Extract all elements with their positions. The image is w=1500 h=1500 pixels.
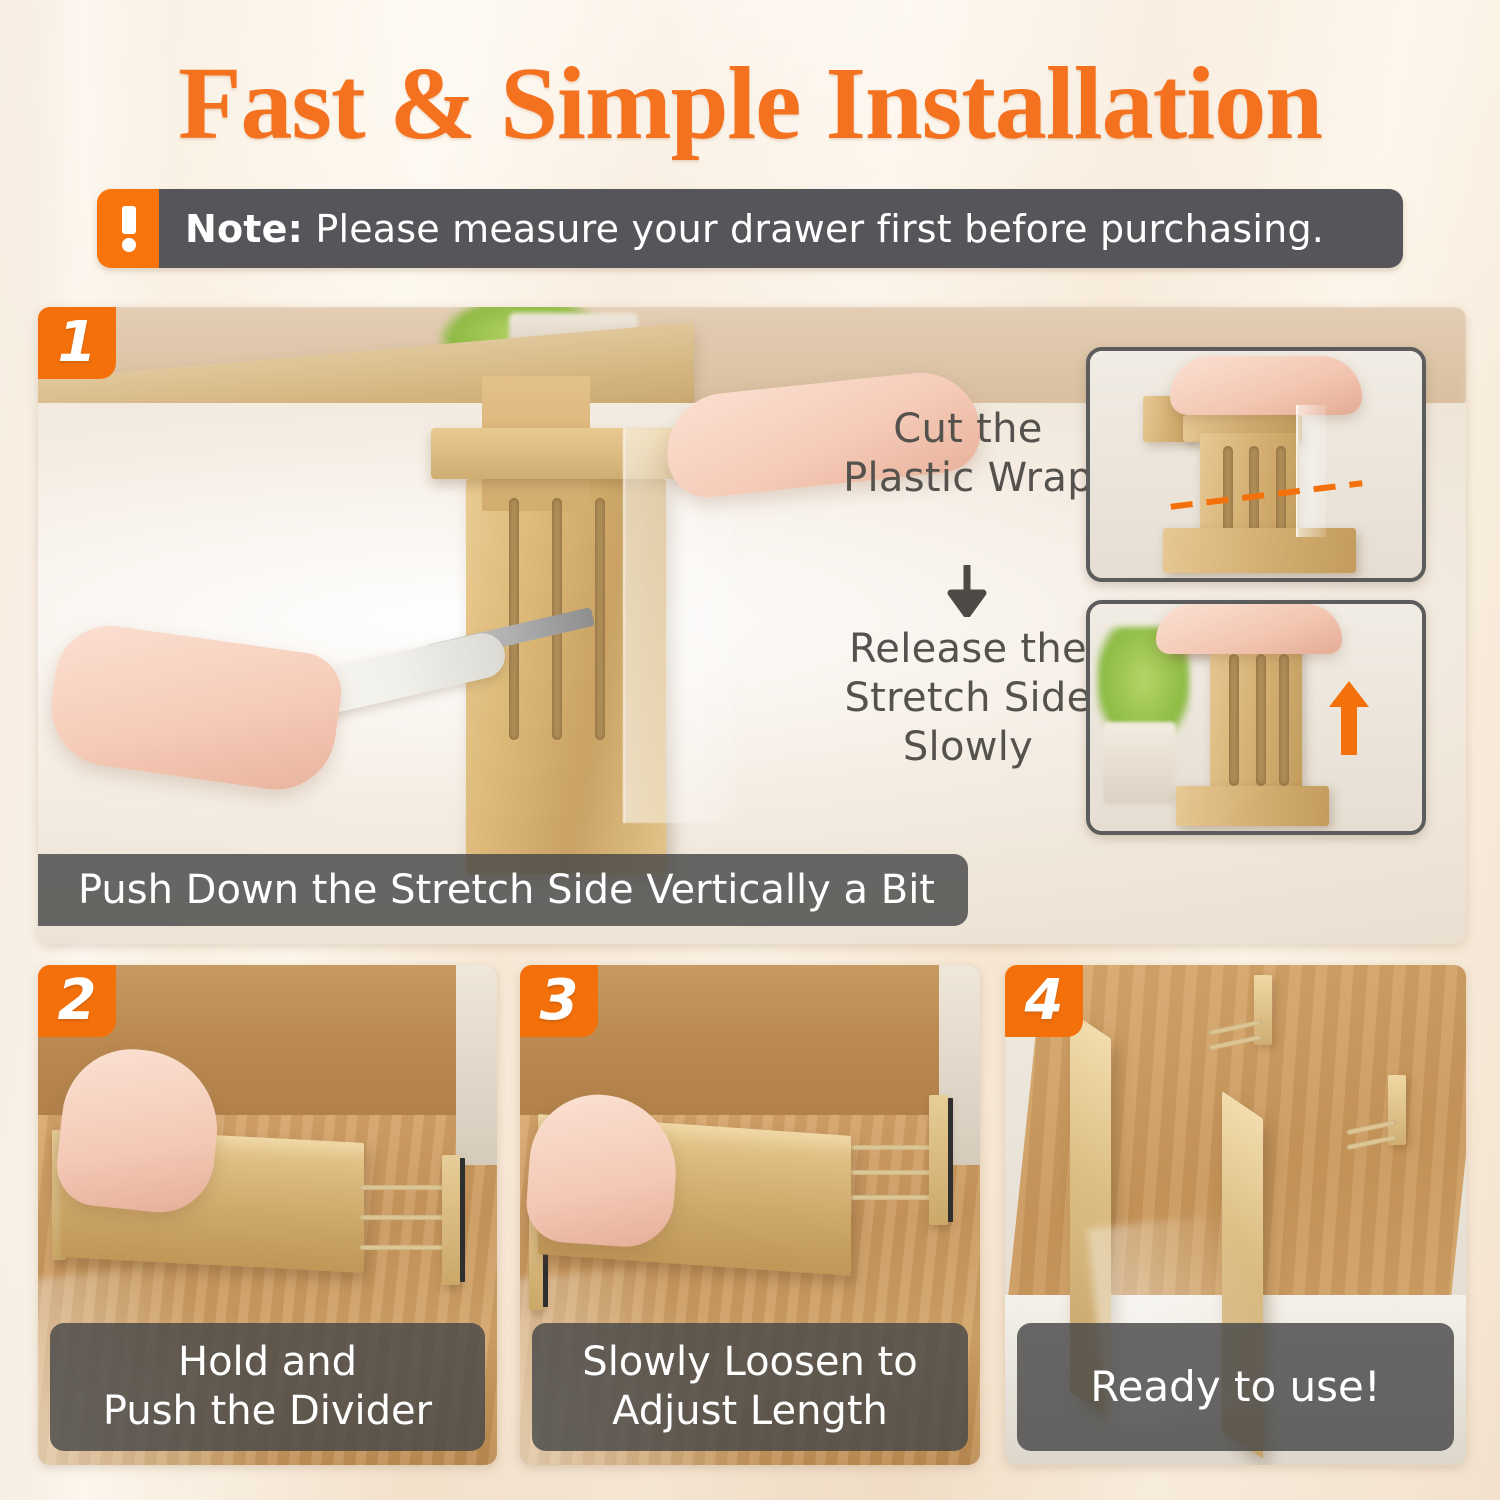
step-badge-1: 1 <box>38 307 116 379</box>
page-title: Fast & Simple Installation <box>0 52 1500 156</box>
infographic-page: Fast & Simple Installation Note: Please … <box>0 0 1500 1500</box>
step-3-caption: Slowly Loosen to Adjust Length <box>532 1323 968 1451</box>
note-label: Note: <box>185 207 303 251</box>
step-4-caption: Ready to use! <box>1017 1323 1454 1451</box>
divider-end-cap <box>929 1095 947 1225</box>
release-stretch-inset <box>1086 600 1426 835</box>
caption-line: Adjust Length <box>612 1387 888 1436</box>
step-badge-2: 2 <box>38 965 116 1037</box>
note-text: Note: Please measure your drawer first b… <box>185 207 1324 251</box>
step-1-caption: Push Down the Stretch Side Vertically a … <box>38 854 968 926</box>
step-panel-2: 2 Hold and Push the Divider <box>38 965 497 1465</box>
step-badge-4: 4 <box>1005 965 1083 1037</box>
step-panel-3: 3 Slowly Loosen to Adjust Length <box>520 965 980 1465</box>
cut-wrap-inset <box>1086 347 1426 582</box>
caption-line: Push the Divider <box>103 1387 432 1436</box>
caption-line: Ready to use! <box>1090 1361 1380 1412</box>
exclamation-icon <box>97 189 159 268</box>
down-arrow-icon <box>943 565 991 617</box>
divider-end-cap <box>442 1155 460 1285</box>
note-body: Please measure your drawer first before … <box>303 207 1324 251</box>
step-panel-1: 1 Cut the Plastic Wrap Release the Stret… <box>38 307 1466 944</box>
note-banner: Note: Please measure your drawer first b… <box>97 189 1403 268</box>
note-bar: Note: Please measure your drawer first b… <box>159 189 1403 268</box>
step-badge-3: 3 <box>520 965 598 1037</box>
caption-line: Slowly Loosen to <box>582 1338 917 1387</box>
step-panel-4: 4 Ready to use! <box>1005 965 1466 1465</box>
orange-up-arrow <box>1329 681 1369 755</box>
caption-line: Hold and <box>178 1338 357 1387</box>
step-2-caption: Hold and Push the Divider <box>50 1323 485 1451</box>
